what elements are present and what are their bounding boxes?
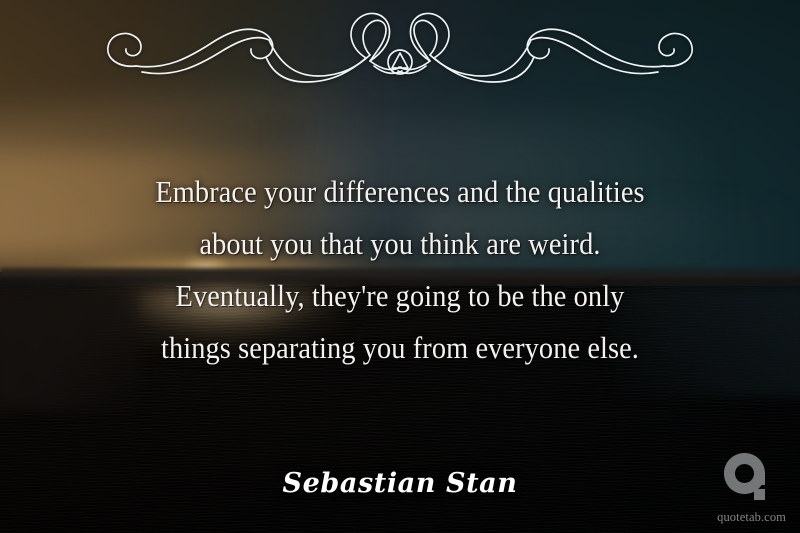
quotetab-site-label: quotetab.com [717,510,786,525]
quotetab-watermark[interactable]: quotetab.com [700,451,786,527]
flourish-ornament [70,8,730,86]
quotetab-q-logo-icon [720,451,778,507]
flourish-left-half [108,13,402,82]
quote-text: Embrace your differences and the qualiti… [28,166,772,374]
quote-author: Sebastian Stan [0,468,800,499]
quote-card: Embrace your differences and the qualiti… [0,0,800,533]
flourish-right-half [398,13,692,82]
